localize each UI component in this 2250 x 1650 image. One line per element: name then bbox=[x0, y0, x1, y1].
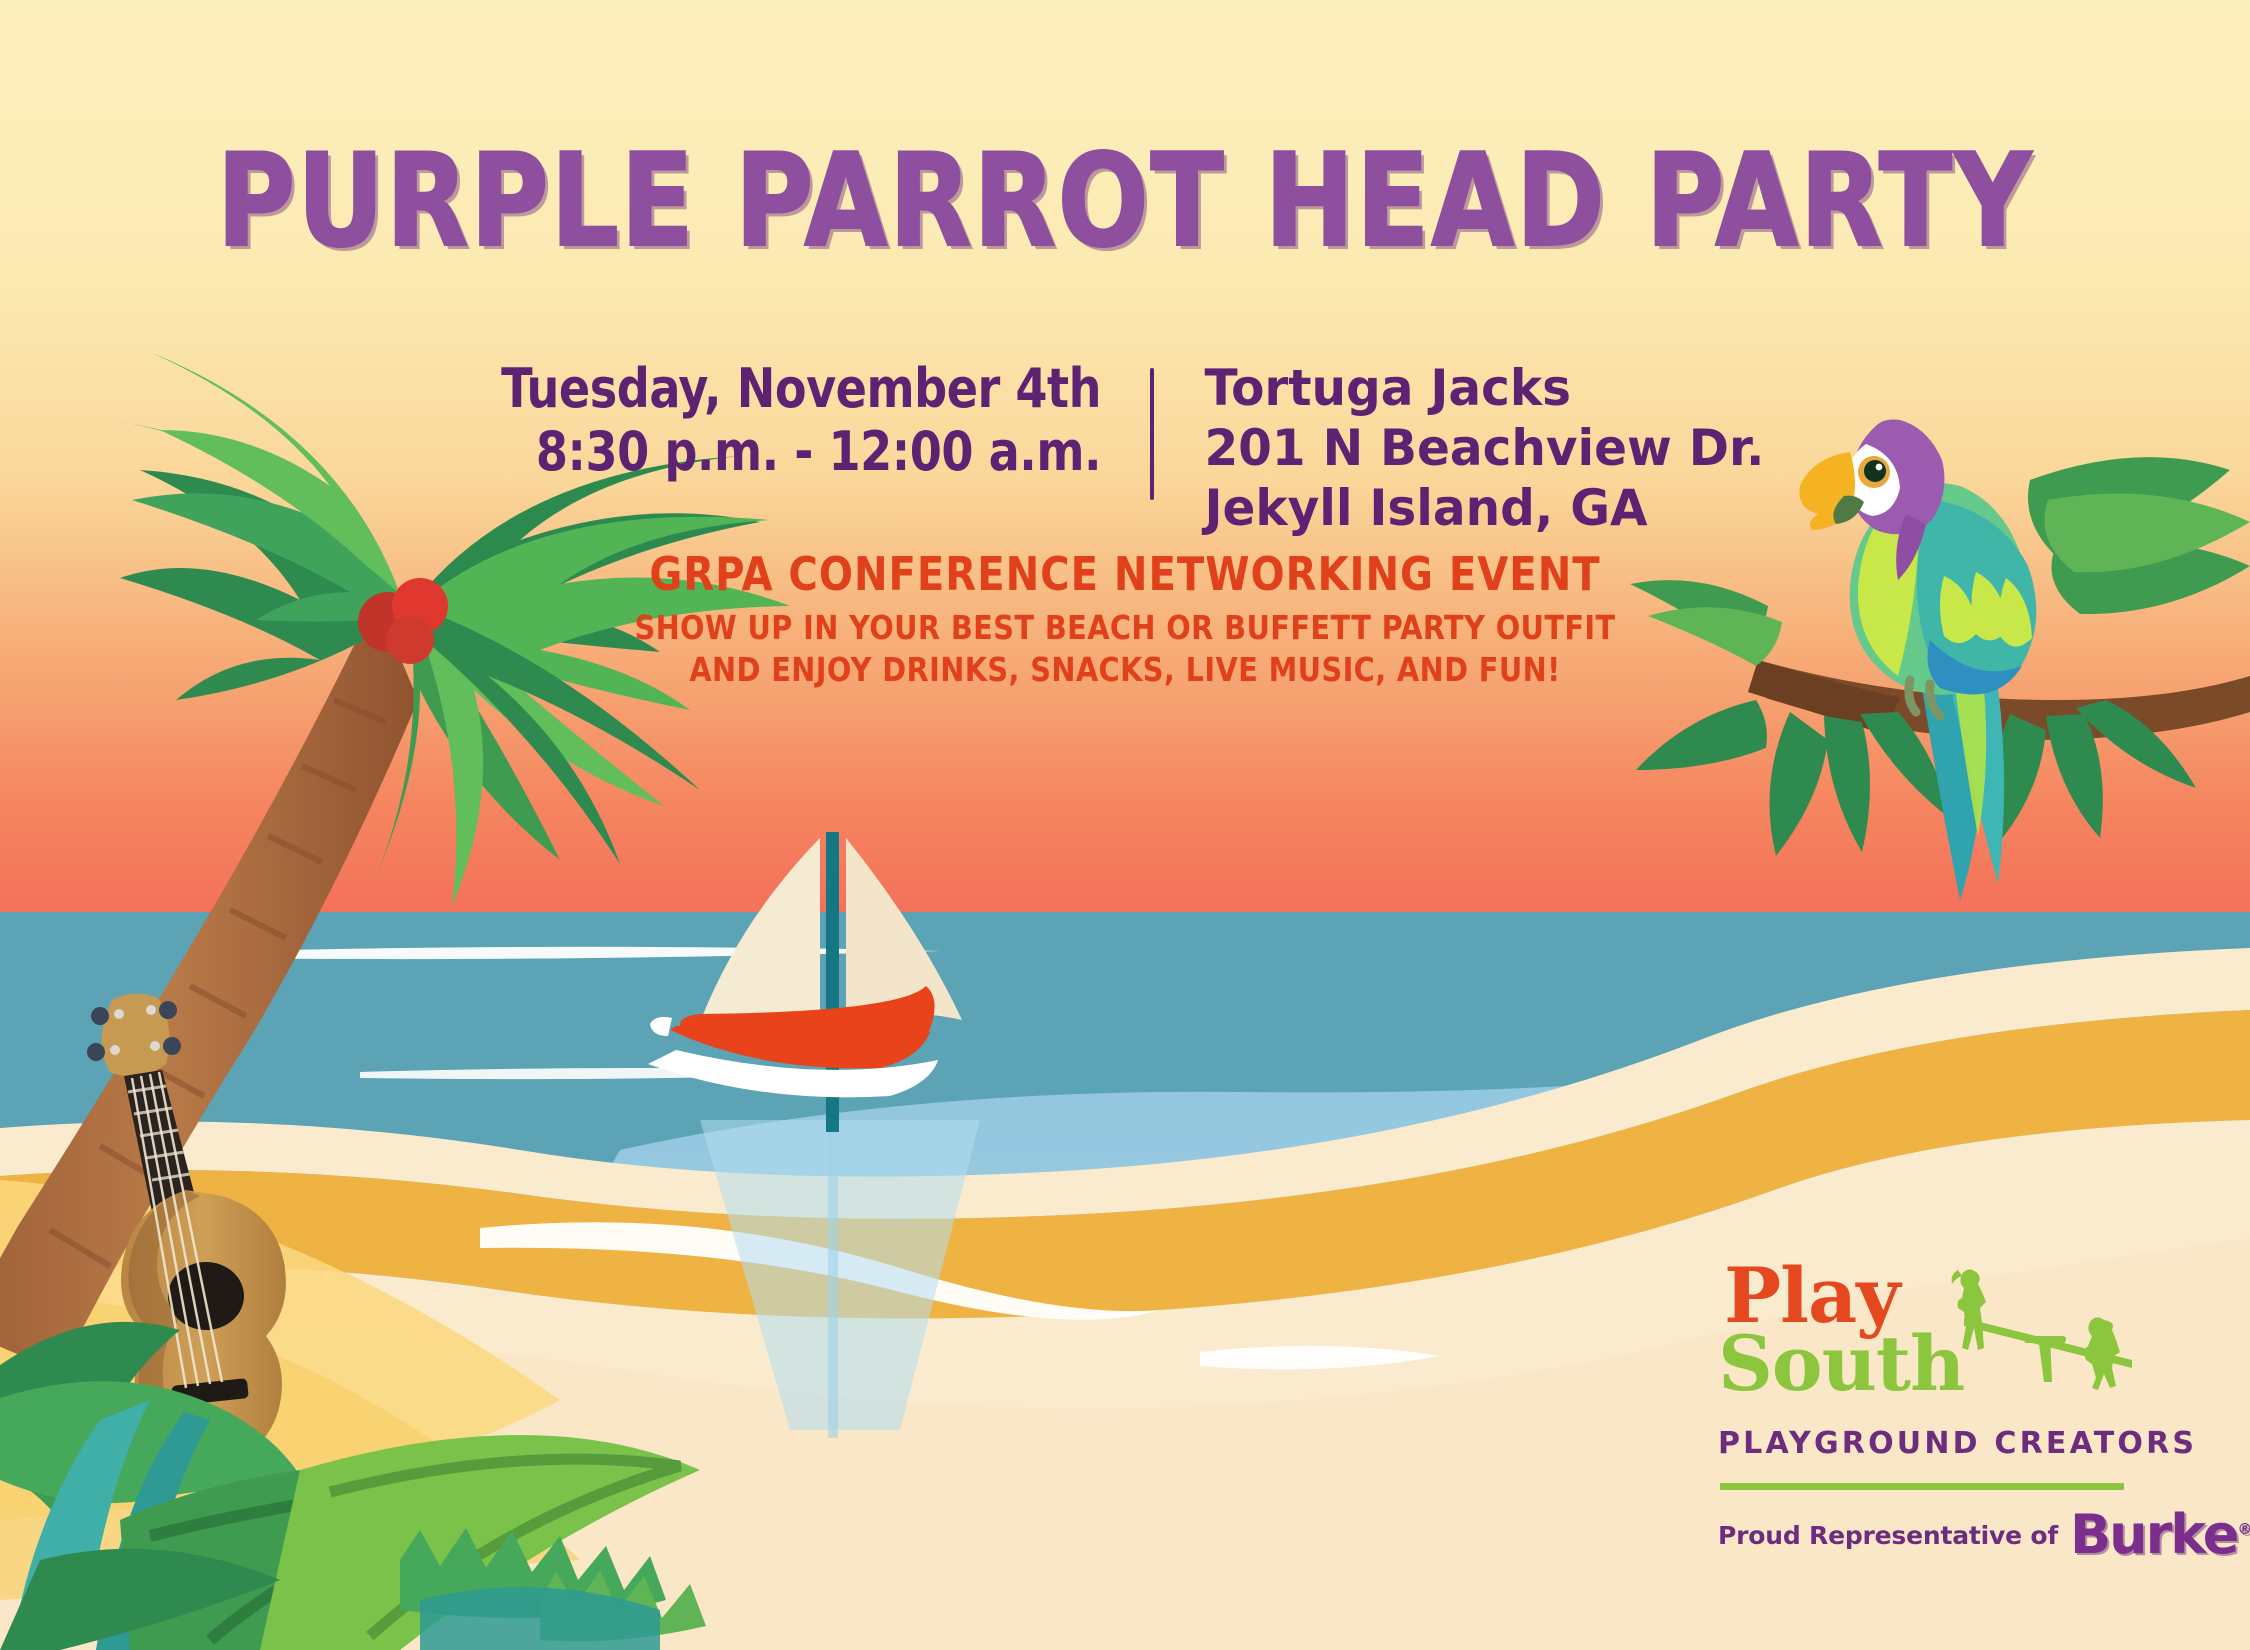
promo-subtext-line-1: SHOW UP IN YOUR BEST BEACH OR BUFFETT PA… bbox=[34, 607, 2217, 649]
logo-tagline: PLAYGROUND CREATORS bbox=[1718, 1426, 2138, 1461]
event-poster: PURPLE PARROT HEAD PARTY Tuesday, Novemb… bbox=[0, 0, 2250, 1650]
logo-divider-rule bbox=[1720, 1483, 2124, 1490]
uke-headstock bbox=[101, 993, 169, 1076]
venue-city-state: Jekyll Island, GA bbox=[1205, 478, 1765, 538]
promo-block: GRPA CONFERENCE NETWORKING EVENT SHOW UP… bbox=[0, 550, 2250, 691]
event-time-line: 8:30 p.m. - 12:00 a.m. bbox=[501, 421, 1101, 484]
play-south-logo: Play South PLAYGROUND CREATORS Proud Rep… bbox=[1718, 1262, 2138, 1562]
logo-south-text: South bbox=[1718, 1326, 1964, 1402]
burke-brand-text: Burke® bbox=[2070, 1508, 2250, 1562]
event-info-row: Tuesday, November 4th 8:30 p.m. - 12:00 … bbox=[0, 358, 2250, 538]
event-date-block: Tuesday, November 4th 8:30 p.m. - 12:00 … bbox=[501, 358, 1150, 483]
proud-representative-text: Proud Representative of bbox=[1718, 1521, 2058, 1550]
event-date-line: Tuesday, November 4th bbox=[501, 358, 1101, 421]
uke-soundhole bbox=[168, 1262, 244, 1330]
venue-street: 201 N Beachview Dr. bbox=[1205, 418, 1765, 478]
logo-wordmark: Play South bbox=[1718, 1262, 2138, 1422]
burke-word: Burke bbox=[2070, 1503, 2237, 1566]
promo-subtext: SHOW UP IN YOUR BEST BEACH OR BUFFETT PA… bbox=[34, 607, 2217, 691]
page-title: PURPLE PARROT HEAD PARTY bbox=[79, 138, 2172, 266]
promo-headline: GRPA CONFERENCE NETWORKING EVENT bbox=[34, 550, 2217, 600]
event-venue-block: Tortuga Jacks 201 N Beachview Dr. Jekyll… bbox=[1154, 358, 1764, 538]
promo-subtext-line-2: AND ENJOY DRINKS, SNACKS, LIVE MUSIC, AN… bbox=[34, 649, 2217, 691]
logo-footer: Proud Representative of Burke® bbox=[1718, 1508, 2138, 1562]
boat-reflection-mast bbox=[828, 1118, 838, 1438]
venue-name: Tortuga Jacks bbox=[1205, 358, 1765, 418]
burke-registered-mark: ® bbox=[2237, 1520, 2250, 1538]
seesaw-icon bbox=[1946, 1264, 2146, 1414]
